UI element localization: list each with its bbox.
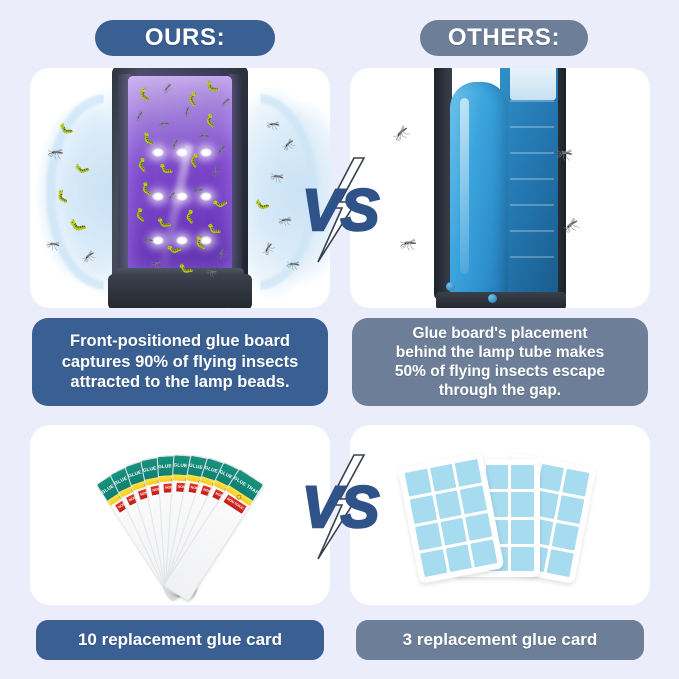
glue-card-grid-cell <box>435 491 462 519</box>
caption-line: 50% of flying insects escape <box>395 362 605 381</box>
power-cord <box>150 300 230 308</box>
escaping-insect-icon: 🦟 <box>560 216 581 234</box>
caption-others-text: Glue board's placementbehind the lamp tu… <box>395 324 605 401</box>
glue-card-grid-cell <box>563 469 590 497</box>
glue-card-grid-cell <box>511 465 534 489</box>
competitor-base <box>436 292 566 308</box>
glue-card-grid-cell <box>547 549 574 577</box>
glue-card-grid-cell <box>557 495 584 523</box>
glue-card-grid-cell <box>486 465 509 489</box>
header-label-others: OTHERS: <box>448 24 560 52</box>
glue-card-grid-cell <box>410 495 437 523</box>
glue-card-grid-cell <box>511 492 534 516</box>
panel-others-device-image: 🦟🦟🦟🦟 ✖ <box>350 68 650 308</box>
competitor-tube-highlight <box>460 98 469 274</box>
escaping-insect-icon: 🦟 <box>390 123 411 143</box>
caption-line: captures 90% of flying insects <box>62 352 299 372</box>
glue-card-grid-cell <box>460 486 487 514</box>
caption-others: Glue board's placementbehind the lamp tu… <box>352 318 648 406</box>
caption-line: through the gap. <box>395 381 605 400</box>
header-pill-others: OTHERS: <box>420 20 588 56</box>
competitor-product-label <box>510 68 556 100</box>
competitor-lamp-illustration: 🦟🦟🦟🦟 <box>350 68 650 308</box>
label-ours-text: 10 replacement glue card <box>78 630 282 650</box>
glue-card-fan: GLUE TRAPNON-TOXICGLUE TRAPNON-TOXICGLUE… <box>30 425 330 605</box>
led-lamp-bead <box>152 148 164 157</box>
panel-ours-glue-cards: GLUE TRAPNON-TOXICGLUE TRAPNON-TOXICGLUE… <box>30 425 330 605</box>
glue-card-grid-cell <box>511 520 534 544</box>
glue-card-grid-cell <box>405 469 432 497</box>
glue-card-grid-cell <box>420 549 447 577</box>
caption-line: attracted to the lamp beads. <box>62 372 299 392</box>
panel-ours-device-image: 🐛🦟🐛🐛🦟🦟🦟🐛🦟🐛🦟🦟🦟🐛🐛🐛🦟🐛🦟🦟🐛🐛🐛🐛🐛🦟🐛🐛🦟🦟🐛🦟🐛🦟🐛🐛🐛🦟🦟🦟… <box>30 68 330 308</box>
competitor-base-knob <box>446 282 455 291</box>
glue-card-grid-cell <box>465 512 492 540</box>
caption-ours-text: Front-positioned glue boardcaptures 90% … <box>62 331 299 392</box>
glue-card-grid-cell <box>552 522 579 550</box>
label-others-card-count: 3 replacement glue card <box>356 620 644 660</box>
glue-card-grid-cell <box>537 464 564 492</box>
caption-line: Glue board's placement <box>395 324 605 343</box>
led-lamp-bead <box>152 192 164 201</box>
caption-line: behind the lamp tube makes <box>395 343 605 362</box>
header-pill-ours: OURS: <box>95 20 275 56</box>
uv-bug-zapper-illustration: 🐛🦟🐛🐛🦟🦟🦟🐛🦟🐛🦟🦟🦟🐛🐛🐛🦟🐛🦟🦟🐛🐛🐛🐛🐛🦟🐛🐛🦟🦟🐛🦟🐛🦟🐛🐛🐛🦟🦟🦟… <box>30 68 330 308</box>
glue-card-grid-cell <box>430 464 457 492</box>
caption-line: Front-positioned glue board <box>62 331 299 351</box>
glue-card-grid-cell <box>440 517 467 545</box>
escaping-insect-icon: 🦟 <box>398 234 419 253</box>
panel-others-glue-cards: ✖ <box>350 425 650 605</box>
competitor-rear-grille <box>510 74 554 274</box>
caption-ours: Front-positioned glue boardcaptures 90% … <box>32 318 328 406</box>
led-lamp-bead <box>176 148 188 157</box>
label-ours-card-count: 10 replacement glue card <box>36 620 324 660</box>
comparison-infographic: OURS: OTHERS: 🐛🦟🐛🐛🦟🦟🦟🐛🦟🐛🦟🦟🦟🐛🐛� <box>0 0 679 679</box>
glue-card-grid-cell <box>511 547 534 571</box>
label-others-text: 3 replacement glue card <box>403 630 598 650</box>
competitor-card-fan <box>350 425 650 605</box>
glue-card-grid-cell <box>455 459 482 487</box>
competitor-base-knob <box>488 294 497 303</box>
competitor-lamp-tube <box>450 82 508 298</box>
led-lamp-bead <box>200 148 212 157</box>
header-label-ours: OURS: <box>145 24 225 52</box>
glue-card-grid-cell <box>415 522 442 550</box>
glue-card-grid-cell <box>445 544 472 572</box>
glue-card-grid-cell <box>471 539 498 567</box>
